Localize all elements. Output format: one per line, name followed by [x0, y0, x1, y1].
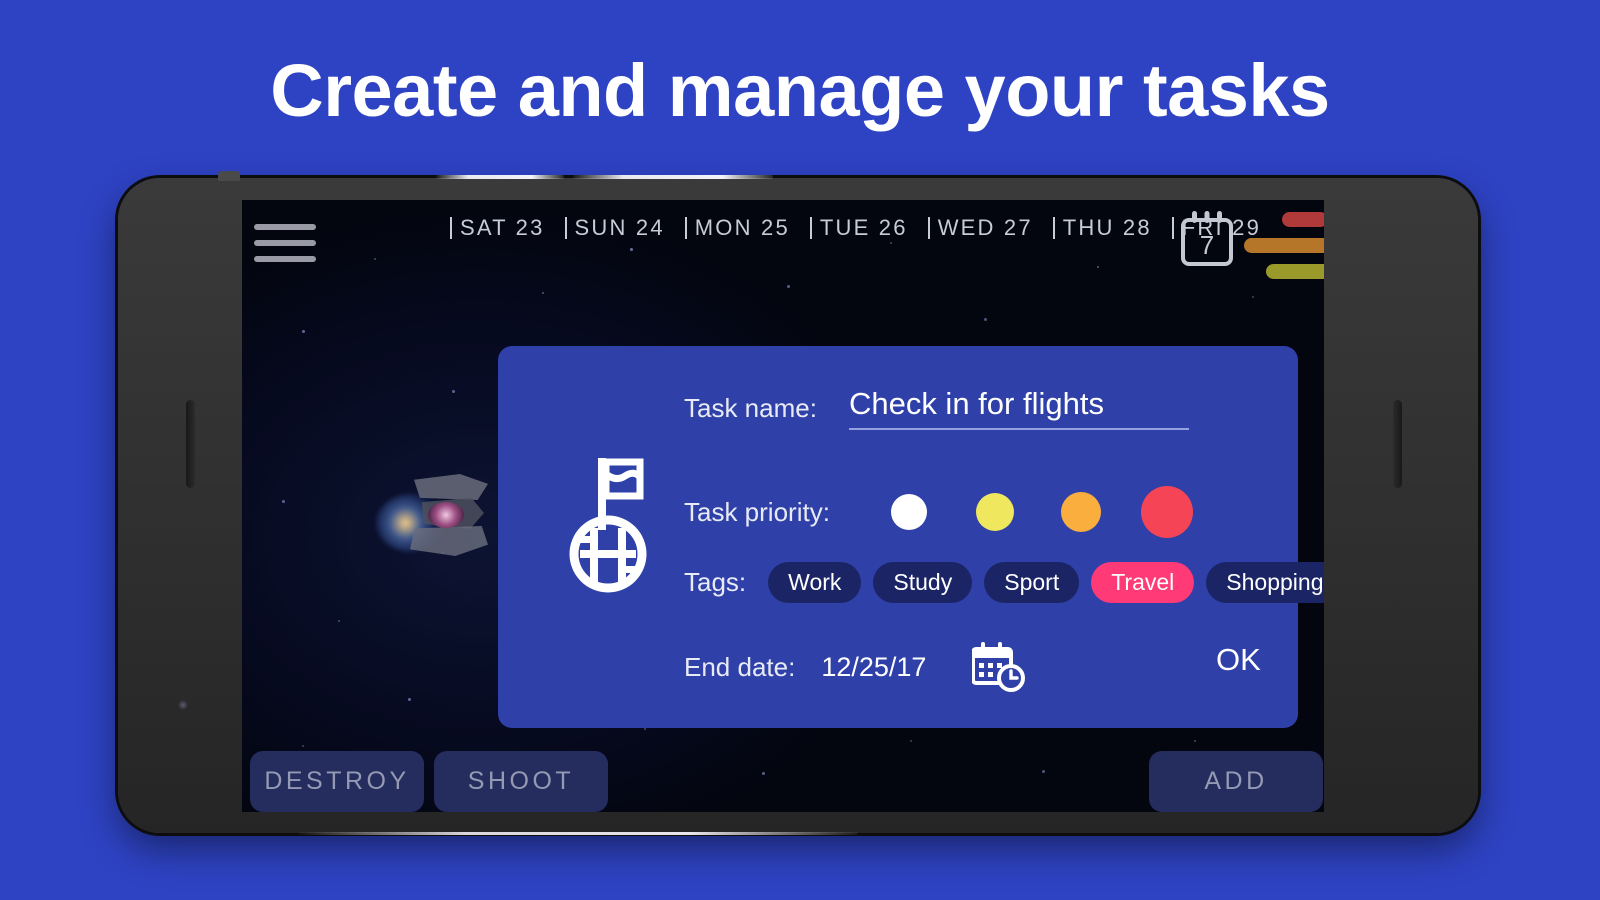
- player-spaceship: [382, 468, 492, 564]
- task-name-input[interactable]: Check in for flights: [849, 386, 1189, 430]
- phone-device-frame: SAT 23 SUN 24 MON 25 TUE 26 WED 27 THU 2…: [118, 178, 1478, 833]
- priority-dot-yellow[interactable]: [976, 493, 1014, 531]
- ship-hull-top: [414, 474, 488, 500]
- day-tab-sun[interactable]: SUN 24: [565, 215, 685, 241]
- priority-bar-red[interactable]: [1282, 212, 1324, 227]
- task-tags-row: Tags: Work Study Sport Travel Shopping: [684, 562, 1324, 603]
- calendar-icon[interactable]: 7: [1179, 210, 1235, 268]
- end-date-label: End date:: [684, 652, 795, 683]
- power-button[interactable]: [1393, 400, 1402, 488]
- app-top-bar: SAT 23 SUN 24 MON 25 TUE 26 WED 27 THU 2…: [242, 200, 1324, 278]
- volume-button[interactable]: [186, 400, 195, 488]
- tag-list: Work Study Sport Travel Shopping: [768, 562, 1324, 603]
- device-top-highlight-right: [573, 175, 773, 179]
- tag-work[interactable]: Work: [768, 562, 861, 603]
- end-date-value[interactable]: 12/25/17: [821, 652, 926, 683]
- device-top-highlight-left: [436, 175, 564, 179]
- planet-with-flag-icon: [558, 454, 658, 594]
- task-priority-row: Task priority:: [684, 486, 1210, 538]
- microphone-icon: [178, 700, 188, 710]
- priority-dot-orange[interactable]: [1061, 492, 1101, 532]
- task-tags-label: Tags:: [684, 567, 746, 598]
- destroy-button[interactable]: DESTROY: [250, 751, 424, 812]
- priority-bar-yellow[interactable]: [1266, 264, 1324, 279]
- task-name-label: Task name:: [684, 393, 817, 424]
- day-tab-tue[interactable]: TUE 26: [810, 215, 928, 241]
- camera-icon: [218, 171, 240, 181]
- calendar-clock-icon[interactable]: [972, 642, 1026, 692]
- day-tab-wed[interactable]: WED 27: [928, 215, 1053, 241]
- add-button[interactable]: ADD: [1149, 751, 1323, 812]
- task-editor-dialog: Task name: Check in for flights Task pri…: [498, 346, 1298, 728]
- tag-sport[interactable]: Sport: [984, 562, 1079, 603]
- shoot-button[interactable]: SHOOT: [434, 751, 608, 812]
- priority-bar-orange[interactable]: [1244, 238, 1324, 253]
- calendar-day-number: 7: [1200, 230, 1214, 260]
- phone-screen: SAT 23 SUN 24 MON 25 TUE 26 WED 27 THU 2…: [242, 200, 1324, 812]
- priority-dot-group: [866, 486, 1210, 538]
- task-name-row: Task name: Check in for flights: [684, 386, 1189, 430]
- page-title: Create and manage your tasks: [0, 48, 1600, 133]
- hamburger-menu-icon[interactable]: [254, 224, 316, 264]
- device-bottom-highlight: [298, 832, 858, 835]
- task-priority-label: Task priority:: [684, 497, 830, 528]
- tag-travel[interactable]: Travel: [1091, 562, 1194, 603]
- day-tab-mon[interactable]: MON 25: [685, 215, 810, 241]
- ship-hull-bottom: [410, 526, 488, 556]
- end-date-row: End date: 12/25/17: [684, 642, 1026, 692]
- day-tab-thu[interactable]: THU 28: [1053, 215, 1172, 241]
- day-tab-sat[interactable]: SAT 23: [450, 215, 565, 241]
- tag-shopping[interactable]: Shopping: [1206, 562, 1324, 603]
- priority-bars-widget[interactable]: [1258, 212, 1324, 290]
- priority-dot-white[interactable]: [891, 494, 927, 530]
- task-name-value: Check in for flights: [849, 386, 1104, 421]
- ship-core: [428, 502, 464, 528]
- priority-dot-red[interactable]: [1141, 486, 1193, 538]
- tag-study[interactable]: Study: [873, 562, 972, 603]
- ok-button[interactable]: OK: [1216, 642, 1261, 678]
- day-strip: SAT 23 SUN 24 MON 25 TUE 26 WED 27 THU 2…: [450, 215, 1281, 241]
